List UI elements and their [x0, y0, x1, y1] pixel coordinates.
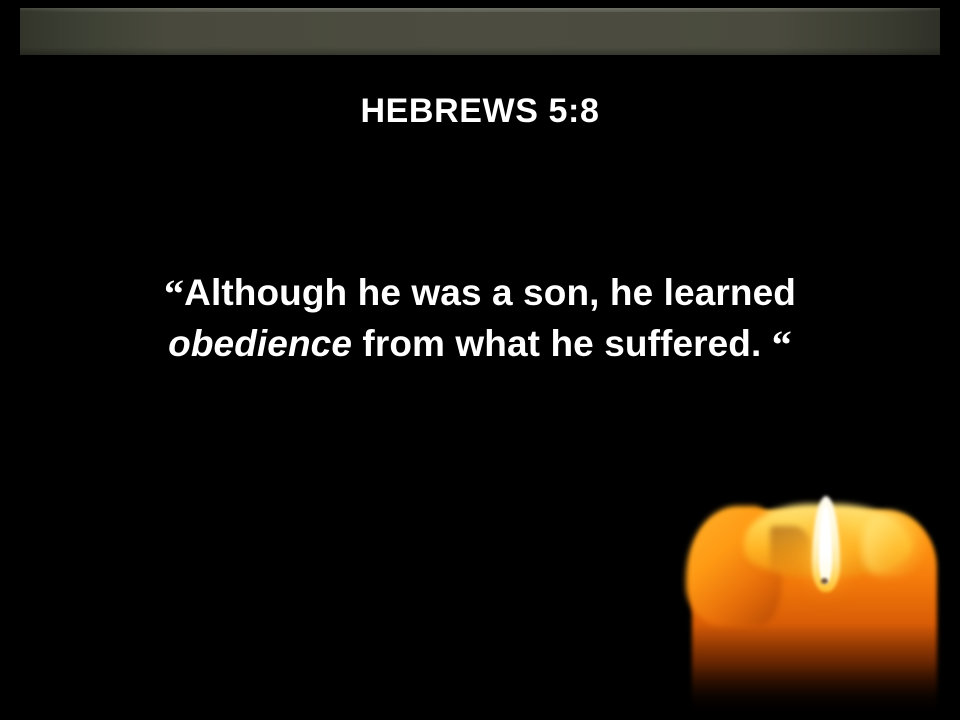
scripture-quote: “Although he was a son, he learned obedi… [0, 268, 960, 370]
quote-emphasis-word: obedience [168, 323, 352, 364]
header-bar-sheen [20, 8, 940, 12]
candle-image [648, 468, 960, 720]
quote-line-1: “Although he was a son, he learned [0, 268, 960, 319]
quote-line-2: obedience from what he suffered. “ [0, 319, 960, 370]
candle-wick [821, 578, 828, 584]
opening-quote-mark: “ [164, 271, 184, 316]
slide-title: HEBREWS 5:8 [0, 92, 960, 130]
decorative-header-bar [20, 8, 940, 55]
candle-base-shadow [648, 624, 960, 720]
closing-quote-mark: “ [772, 322, 792, 367]
presentation-slide: HEBREWS 5:8 “Although he was a son, he l… [0, 0, 960, 720]
quote-line-2-text: from what he suffered. [352, 323, 772, 364]
quote-line-1-text: Although he was a son, he learned [184, 272, 796, 313]
header-bar-shadow [20, 47, 940, 55]
